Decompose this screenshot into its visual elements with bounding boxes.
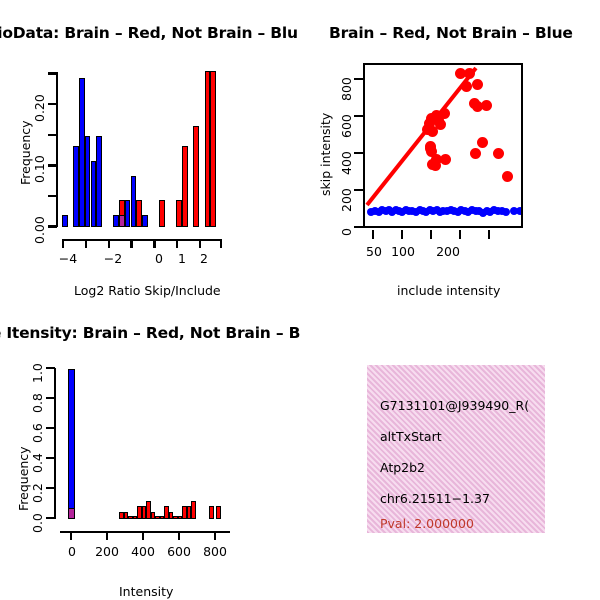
scatter-ylabel: skip intensity [318, 113, 333, 196]
gene-x-ticklabel: 400 [128, 544, 158, 559]
gene-intensity-ylabel: Frequency [16, 446, 31, 511]
scatter-y-ticklabel: 0 [339, 228, 354, 236]
ratio-histogram-panel: RatioData: Brain – Red, Not Brain – Blu … [0, 0, 300, 310]
scatter-plot-area [363, 63, 523, 228]
gene-intensity-title: ne Itensity: Brain – Red, Not Brain – B [0, 324, 300, 342]
info-event-type: altTxStart [380, 429, 442, 444]
scatter-y-ticklabel: 800 [339, 77, 354, 101]
gene-y-tick [46, 427, 55, 429]
histogram-bar [159, 200, 165, 227]
scatter-y-tick [354, 115, 363, 117]
scatter-y-tick [354, 226, 363, 228]
ratio-y-ticklabel: 0.20 [32, 94, 47, 122]
histogram-bar [193, 126, 199, 227]
gene-y-tick [46, 367, 55, 369]
gene-x-ticklabel: 800 [200, 544, 230, 559]
scatter-point [493, 148, 504, 159]
gene-intensity-panel: ne Itensity: Brain – Red, Not Brain – B … [0, 310, 300, 600]
gene-intensity-plot [60, 369, 230, 519]
scatter-point [470, 148, 481, 159]
ratio-histogram-ylabel: Frequency [18, 120, 33, 185]
scatter-y-tick [354, 152, 363, 154]
histogram-bar [136, 200, 142, 227]
gene-y-ticklabel: 0.8 [30, 393, 45, 413]
info-locus: chr6.21511−1.37 [380, 491, 490, 506]
ratio-x-tick [108, 239, 110, 248]
info-pvalue: Pval: 2.000000 [380, 516, 474, 531]
ratio-x-ticklabel: −4 [58, 251, 78, 266]
scatter-y-ticklabel: 400 [339, 151, 354, 175]
histogram-bar-overlap [68, 508, 75, 519]
ratio-x-tick [176, 239, 178, 248]
scatter-point [440, 154, 451, 165]
gene-y-tick [46, 487, 55, 489]
scatter-point [502, 208, 510, 216]
ratio-x-tick [220, 239, 222, 248]
ratio-y-ticklabel: 0.00 [32, 216, 47, 244]
ratio-x-ticklabel: 0 [149, 251, 169, 266]
ratio-x-ticklabel: 2 [194, 251, 214, 266]
histogram-bar [142, 215, 148, 228]
scatter-title: Brain – Red, Not Brain – Blue [329, 24, 573, 42]
scatter-y-tick [354, 78, 363, 80]
scatter-point [435, 119, 446, 130]
gene-y-ticklabel: 0.4 [30, 453, 45, 473]
ratio-x-tick [62, 239, 64, 248]
histogram-bar [62, 215, 68, 228]
scatter-x-tick [401, 230, 403, 239]
info-probe-id: G7131101@J939490_R( [380, 398, 529, 413]
gene-x-tick [106, 531, 108, 540]
scatter-point [516, 207, 523, 215]
histogram-bar [209, 506, 214, 519]
ratio-x-ticklabel: −2 [103, 251, 123, 266]
gene-x-tick [214, 531, 216, 540]
histogram-bar [216, 506, 221, 519]
ratio-histogram-xlabel: Log2 Ratio Skip/Include [74, 283, 221, 298]
gene-x-ticklabel: 600 [164, 544, 194, 559]
scatter-y-ticklabel: 200 [339, 188, 354, 212]
gene-x-tick [178, 531, 180, 540]
ratio-x-tick [85, 239, 87, 248]
scatter-point [425, 141, 436, 152]
scatter-x-tick [459, 230, 461, 239]
gene-y-ticklabel: 0.2 [30, 483, 45, 503]
histogram-bar-overlap [119, 215, 125, 228]
gene-y-ticklabel: 1.0 [30, 363, 45, 383]
ratio-x-tick [153, 239, 155, 248]
ratio-histogram-plot [62, 72, 222, 227]
scatter-point [502, 171, 513, 182]
scatter-x-tick [488, 230, 490, 239]
ratio-x-ticklabel: 1 [172, 251, 192, 266]
gene-y-tick [46, 457, 55, 459]
ratio-y-ticklabel: 0.10 [32, 155, 47, 183]
gene-y-tick [46, 517, 55, 519]
ratio-y-tick [48, 72, 57, 74]
gene-intensity-xlabel: Intensity [119, 584, 173, 599]
scatter-point [477, 137, 488, 148]
scatter-x-ticklabel: 50 [363, 244, 385, 259]
intensity-scatter-panel: Brain – Red, Not Brain – Blue skip inten… [300, 0, 600, 310]
ratio-histogram-title: RatioData: Brain – Red, Not Brain – Blu [0, 24, 298, 42]
histogram-bar [68, 369, 75, 519]
histogram-bar [191, 501, 196, 519]
scatter-x-tick [372, 230, 374, 239]
gene-x-tick [142, 531, 144, 540]
ratio-y-tick [48, 225, 57, 227]
ratio-y-tick [48, 164, 57, 166]
ratio-y-axis-line [56, 72, 58, 227]
ratio-y-tick [48, 195, 57, 197]
ratio-x-tick [199, 239, 201, 248]
ratio-y-tick [48, 134, 57, 136]
scatter-point [461, 81, 472, 92]
info-gene-symbol: Atp2b2 [380, 460, 425, 475]
scatter-x-tick [430, 230, 432, 239]
scatter-point [464, 68, 475, 79]
gene-info-panel: G7131101@J939490_R( altTxStart Atp2b2 ch… [367, 365, 545, 533]
scatter-point [481, 100, 492, 111]
ratio-x-tick [130, 239, 132, 248]
gene-y-axis-line [54, 368, 56, 519]
scatter-point [472, 79, 483, 90]
gene-x-ticklabel: 0 [61, 544, 83, 559]
gene-y-ticklabel: 0.0 [30, 513, 45, 533]
histogram-bar [210, 71, 216, 227]
gene-x-ticklabel: 200 [92, 544, 122, 559]
scatter-point [439, 108, 450, 119]
histogram-bar [96, 136, 102, 227]
gene-y-tick [46, 397, 55, 399]
scatter-y-ticklabel: 600 [339, 114, 354, 138]
scatter-xlabel: include intensity [397, 283, 500, 298]
ratio-y-tick [48, 103, 57, 105]
gene-x-axis-line [60, 531, 230, 533]
scatter-x-ticklabel: 100 [390, 244, 416, 259]
gene-x-tick [70, 531, 72, 540]
scatter-y-tick [354, 189, 363, 191]
scatter-x-ticklabel: 200 [435, 244, 461, 259]
gene-y-ticklabel: 0.6 [30, 423, 45, 443]
histogram-bar [182, 146, 188, 227]
